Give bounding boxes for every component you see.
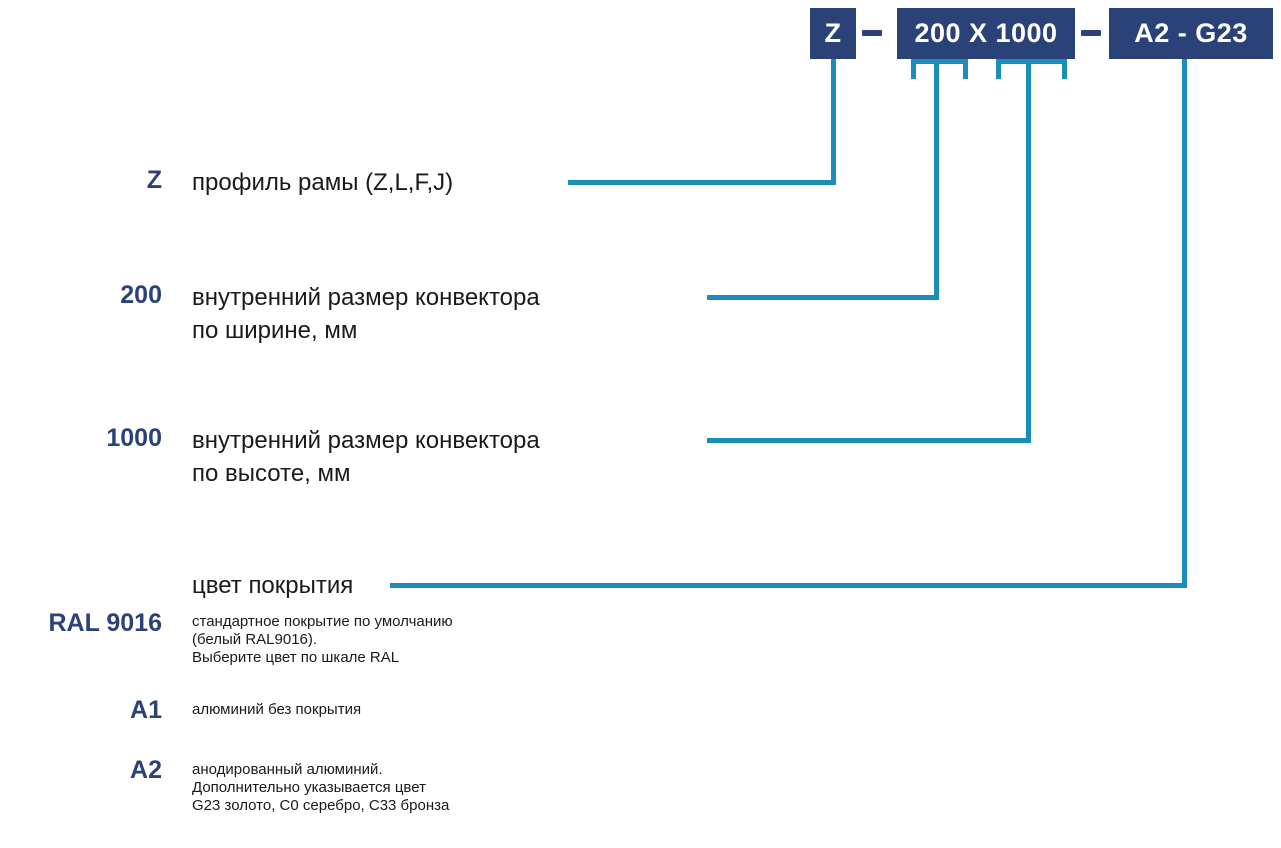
connector-profile-horizontal <box>568 180 836 185</box>
connector-height-vertical <box>1026 64 1031 443</box>
code-separator-2-icon <box>1081 30 1101 36</box>
color-option-description-a1: алюминий без покрытия <box>192 701 361 719</box>
color-option-description-ral9016: стандартное покрытие по умолчанию (белый… <box>192 613 453 667</box>
bracket-height-right-tick <box>1062 59 1067 79</box>
bracket-height-top <box>996 59 1067 64</box>
bracket-height-left-tick <box>996 59 1001 79</box>
legend-description-width: внутренний размер конвектора по ширине, … <box>192 281 540 347</box>
legend-description-coating: цвет покрытия <box>192 569 353 602</box>
legend-key-height: 1000 <box>0 424 162 453</box>
legend-description-profile: профиль рамы (Z,L,F,J) <box>192 166 453 199</box>
code-box-profile: Z <box>810 8 856 59</box>
legend-description-height: внутренний размер конвектора по высоте, … <box>192 424 540 490</box>
color-option-key-a2: A2 <box>0 756 162 785</box>
connector-width-horizontal <box>707 295 939 300</box>
product-code-diagram: Z 200 X 1000 A2 - G23 Z профиль рамы (Z,… <box>0 0 1281 848</box>
code-separator-1-icon <box>862 30 882 36</box>
connector-profile-vertical <box>831 59 836 185</box>
connector-height-horizontal <box>707 438 1031 443</box>
legend-key-width: 200 <box>0 281 162 310</box>
bracket-width-top <box>911 59 968 64</box>
bracket-width-right-tick <box>963 59 968 79</box>
code-box-size: 200 X 1000 <box>897 8 1075 59</box>
code-box-color: A2 - G23 <box>1109 8 1273 59</box>
color-option-description-a2: анодированный алюминий. Дополнительно ук… <box>192 761 449 815</box>
legend-key-profile: Z <box>0 166 162 195</box>
color-option-key-a1: A1 <box>0 696 162 725</box>
connector-color-vertical <box>1182 59 1187 588</box>
bracket-width-left-tick <box>911 59 916 79</box>
connector-width-vertical <box>934 64 939 300</box>
color-option-key-ral9016: RAL 9016 <box>0 609 162 638</box>
connector-color-horizontal <box>390 583 1187 588</box>
